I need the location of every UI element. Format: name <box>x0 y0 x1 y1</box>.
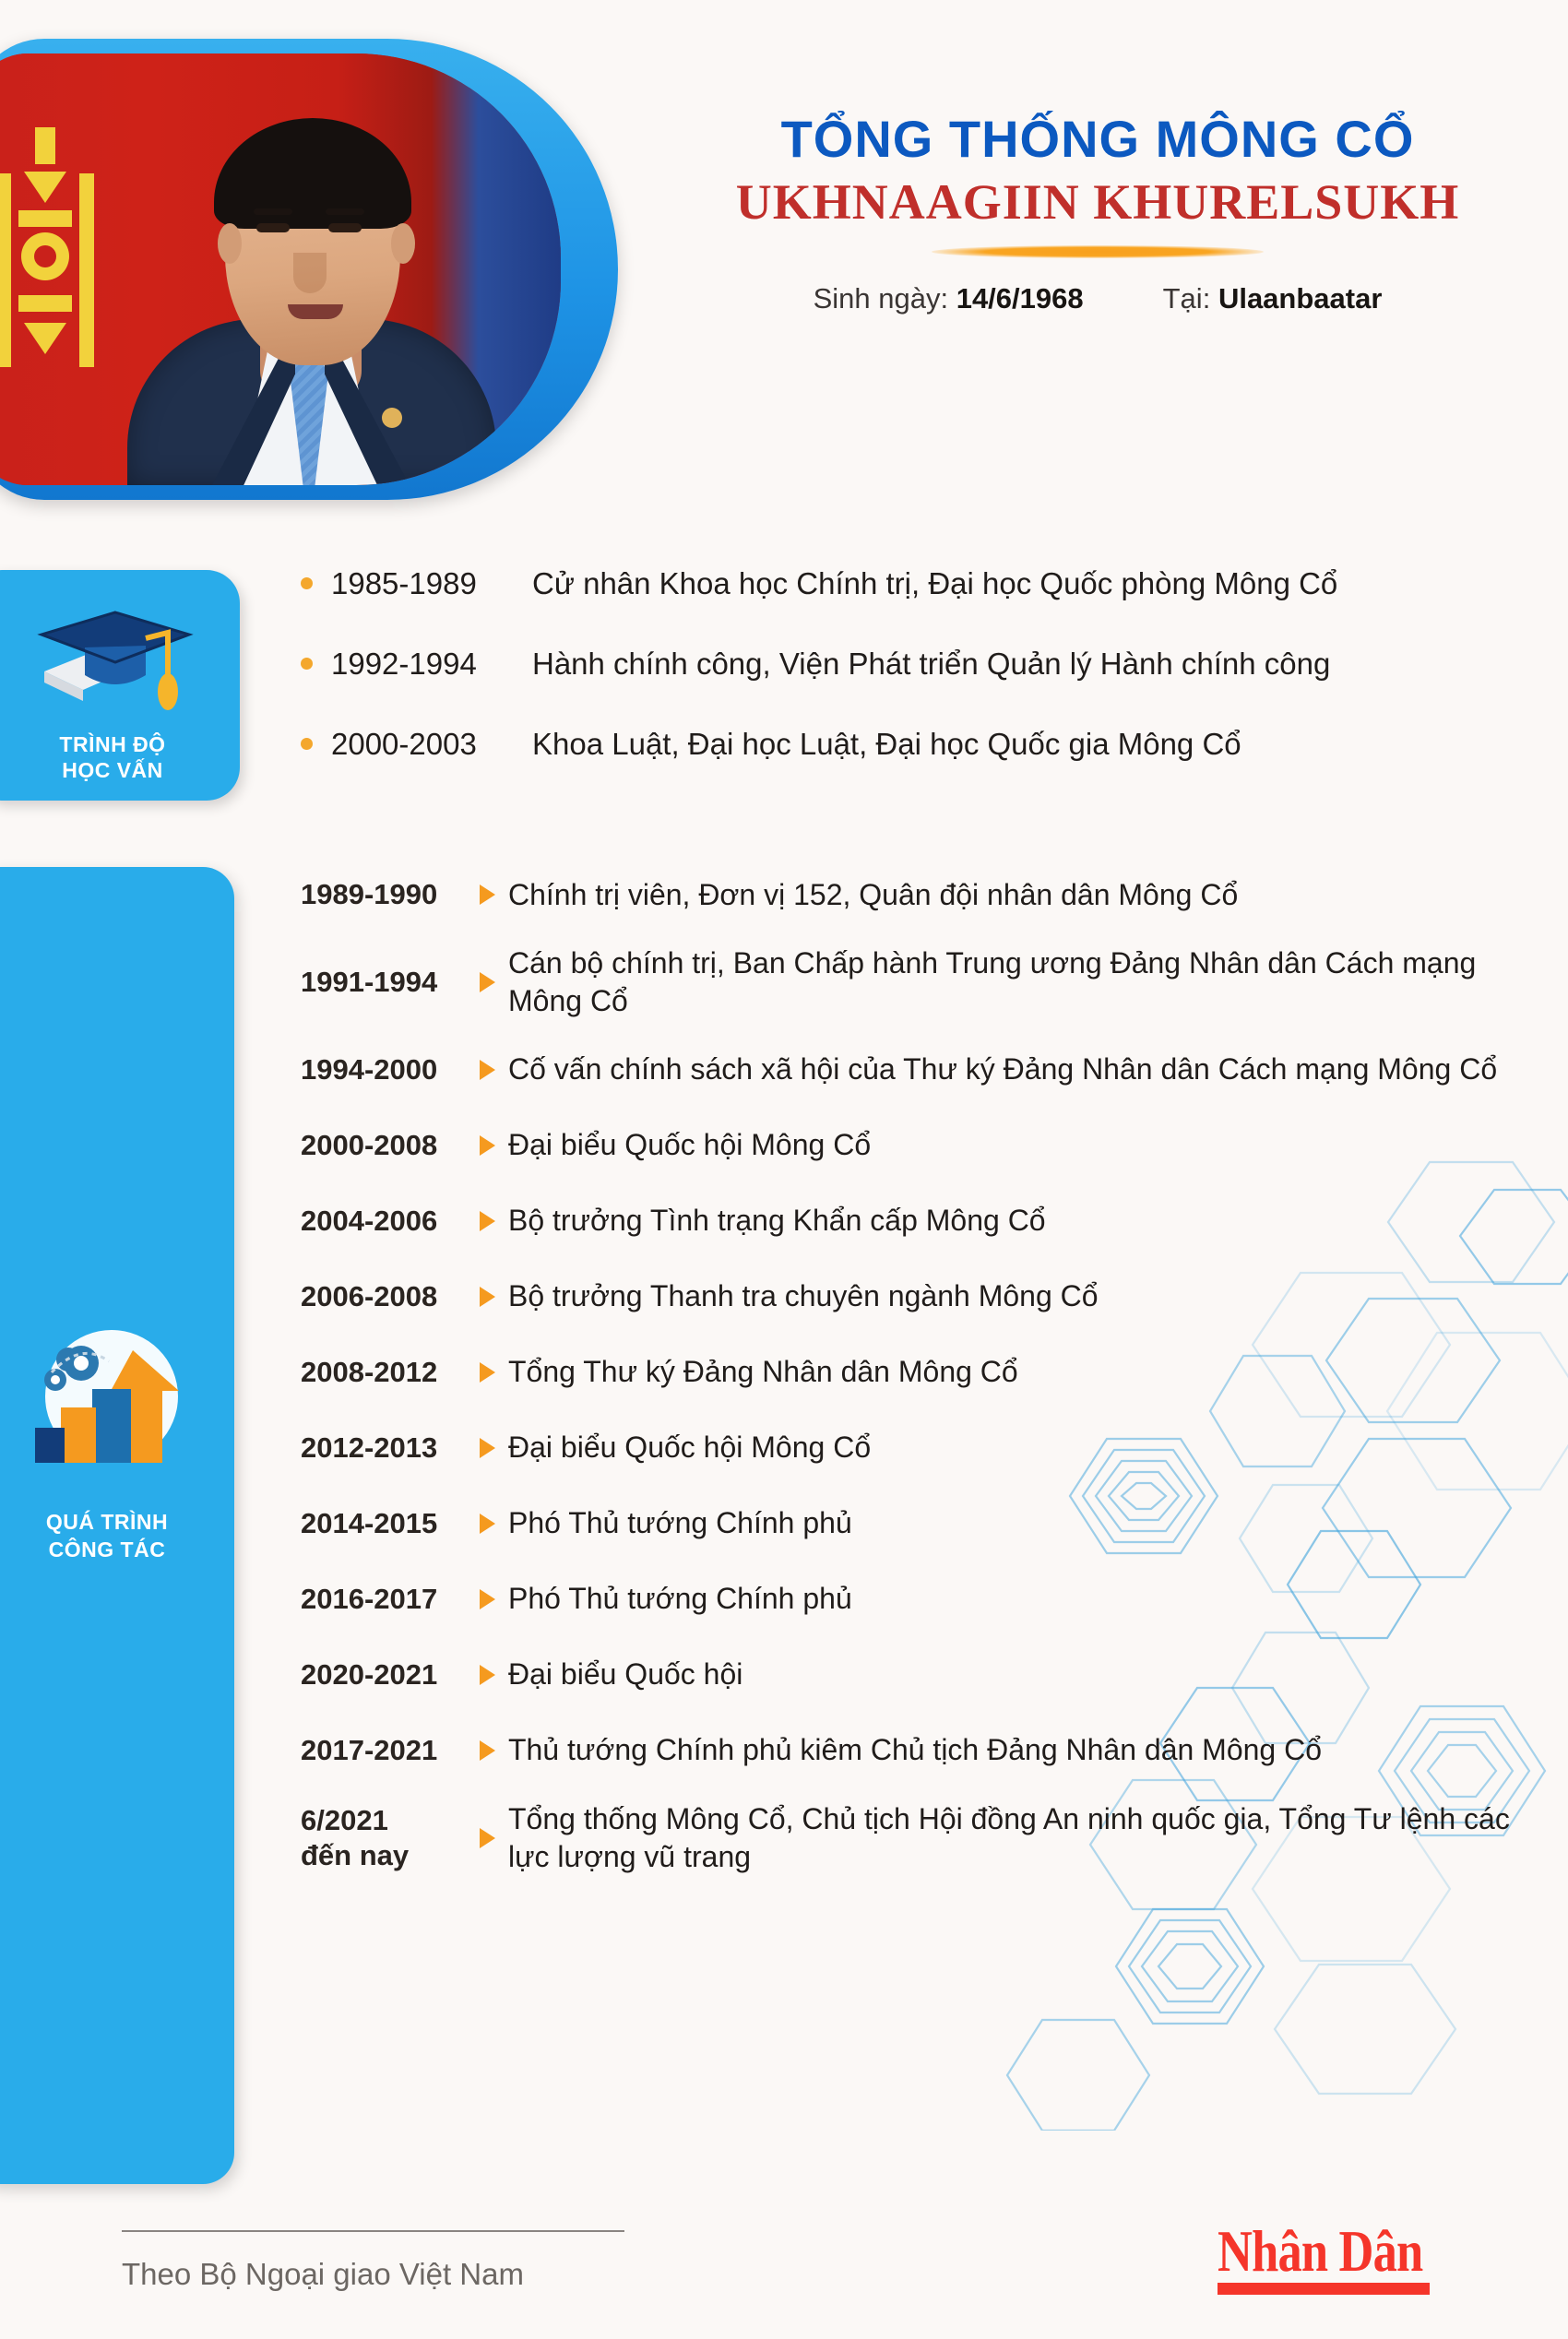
birth-info-row: Sinh ngày: 14/6/1968 Tại: Ulaanbaatar <box>636 282 1559 315</box>
education-year: 1992-1994 <box>331 647 532 682</box>
education-badge-line1: TRÌNH ĐỘ <box>0 731 240 758</box>
arrow-right-icon <box>480 1665 495 1685</box>
work-badge-label: QUÁ TRÌNH CÔNG TÁC <box>0 1509 234 1564</box>
work-history-badge: QUÁ TRÌNH CÔNG TÁC <box>0 867 234 2184</box>
arrow-right-icon <box>480 1287 495 1307</box>
birth-place: Tại: Ulaanbaatar <box>1163 282 1383 315</box>
portrait-photo <box>0 53 561 485</box>
work-description: Cố vấn chính sách xã hội của Thư ký Đảng… <box>508 1051 1497 1088</box>
education-list: 1985-1989 Cử nhân Khoa học Chính trị, Đạ… <box>301 566 1527 807</box>
work-item: 1994-2000 Cố vấn chính sách xã hội của T… <box>301 1044 1537 1096</box>
work-description: Cán bộ chính trị, Ban Chấp hành Trung ươ… <box>508 944 1537 1020</box>
nhan-dan-logo-bar <box>1218 2283 1430 2295</box>
birth-place-value: Ulaanbaatar <box>1218 282 1382 315</box>
education-badge: TRÌNH ĐỘ HỌC VẤN <box>0 570 240 801</box>
work-item: 1989-1990 Chính trị viên, Đơn vị 152, Qu… <box>301 869 1537 920</box>
work-item: 2014-2015 Phó Thủ tướng Chính phủ <box>301 1498 1537 1549</box>
work-year: 2017-2021 <box>301 1733 476 1768</box>
work-history-list: 1989-1990 Chính trị viên, Đơn vị 152, Qu… <box>301 869 1537 1876</box>
president-portrait-illustration <box>111 85 507 485</box>
infographic-page: TỔNG THỐNG MÔNG CỔ UKHNAAGIIN KHURELSUKH… <box>0 0 1568 2339</box>
work-item: 2004-2006 Bộ trưởng Tình trạng Khẩn cấp … <box>301 1195 1537 1247</box>
education-description: Cử nhân Khoa học Chính trị, Đại học Quốc… <box>532 566 1337 601</box>
work-description: Thủ tướng Chính phủ kiêm Chủ tịch Đảng N… <box>508 1731 1322 1769</box>
work-item: 2000-2008 Đại biểu Quốc hội Mông Cổ <box>301 1120 1537 1171</box>
work-description: Tổng Thư ký Đảng Nhân dân Mông Cổ <box>508 1353 1018 1391</box>
work-year: 2006-2008 <box>301 1279 476 1314</box>
header: TỔNG THỐNG MÔNG CỔ UKHNAAGIIN KHURELSUKH… <box>0 0 1568 516</box>
arrow-right-icon <box>480 1362 495 1383</box>
birth-place-label: Tại: <box>1163 282 1211 315</box>
arrow-right-icon <box>480 1060 495 1080</box>
bullet-dot-icon <box>301 738 313 750</box>
education-badge-line2: HỌC VẤN <box>0 757 240 784</box>
work-year: 2004-2006 <box>301 1204 476 1239</box>
footer-source: Theo Bộ Ngoại giao Việt Nam <box>122 2257 524 2292</box>
work-year: 2016-2017 <box>301 1582 476 1617</box>
footer-divider <box>122 2230 624 2232</box>
education-item: 1992-1994 Hành chính công, Viện Phát tri… <box>301 647 1527 682</box>
arrow-right-icon <box>480 1828 495 1848</box>
arrow-right-icon <box>480 1438 495 1458</box>
work-year: 2020-2021 <box>301 1657 476 1692</box>
work-item: 2020-2021 Đại biểu Quốc hội <box>301 1649 1537 1701</box>
work-year: 1991-1994 <box>301 965 476 1000</box>
nhan-dan-logo[interactable]: Nhân Dân <box>1218 2223 1476 2311</box>
orange-divider <box>932 245 1264 258</box>
work-year: 2012-2013 <box>301 1431 476 1466</box>
arrow-right-icon <box>480 1740 495 1761</box>
bar-chart-growth-icon <box>24 1324 199 1495</box>
work-year: 1989-1990 <box>301 877 476 912</box>
soyombo-symbol-icon <box>0 118 129 422</box>
arrow-right-icon <box>480 972 495 992</box>
bullet-dot-icon <box>301 658 313 670</box>
work-description: Đại biểu Quốc hội Mông Cổ <box>508 1126 871 1164</box>
work-description: Đại biểu Quốc hội Mông Cổ <box>508 1429 871 1466</box>
work-item: 2006-2008 Bộ trưởng Thanh tra chuyên ngà… <box>301 1271 1537 1323</box>
bullet-dot-icon <box>301 577 313 589</box>
work-item: 2012-2013 Đại biểu Quốc hội Mông Cổ <box>301 1422 1537 1474</box>
page-title: TỔNG THỐNG MÔNG CỔ <box>636 111 1559 168</box>
work-badge-line2: CÔNG TÁC <box>0 1537 234 1564</box>
work-description: Tổng thống Mông Cổ, Chủ tịch Hội đồng An… <box>508 1800 1537 1876</box>
person-name: UKHNAAGIIN KHURELSUKH <box>636 173 1559 231</box>
work-description: Đại biểu Quốc hội <box>508 1656 742 1693</box>
work-year: 6/2021 đến nay <box>301 1803 476 1873</box>
education-description: Khoa Luật, Đại học Luật, Đại học Quốc gi… <box>532 727 1241 762</box>
work-year: 1994-2000 <box>301 1052 476 1087</box>
work-description: Phó Thủ tướng Chính phủ <box>508 1504 852 1542</box>
arrow-right-icon <box>480 1135 495 1156</box>
work-description: Bộ trưởng Tình trạng Khẩn cấp Mông Cổ <box>508 1202 1046 1240</box>
arrow-right-icon <box>480 885 495 905</box>
education-year: 2000-2003 <box>331 727 532 762</box>
portrait-frame <box>0 39 618 500</box>
work-description: Chính trị viên, Đơn vị 152, Quân đội nhâ… <box>508 876 1238 914</box>
work-item: 2016-2017 Phó Thủ tướng Chính phủ <box>301 1573 1537 1625</box>
graduation-cap-icon <box>28 590 203 729</box>
birth-date-value: 14/6/1968 <box>956 282 1084 315</box>
work-item: 6/2021 đến nay Tổng thống Mông Cổ, Chủ t… <box>301 1800 1537 1876</box>
work-description: Phó Thủ tướng Chính phủ <box>508 1580 852 1618</box>
birth-date-label: Sinh ngày: <box>814 282 949 315</box>
work-badge-line1: QUÁ TRÌNH <box>0 1509 234 1537</box>
arrow-right-icon <box>480 1211 495 1231</box>
education-item: 2000-2003 Khoa Luật, Đại học Luật, Đại h… <box>301 727 1527 762</box>
work-year: 2008-2012 <box>301 1355 476 1390</box>
work-description: Bộ trưởng Thanh tra chuyên ngành Mông Cổ <box>508 1277 1099 1315</box>
arrow-right-icon <box>480 1589 495 1609</box>
arrow-right-icon <box>480 1514 495 1534</box>
education-badge-label: TRÌNH ĐỘ HỌC VẤN <box>0 731 240 785</box>
nhan-dan-logo-text: Nhân Dân <box>1218 2223 1430 2279</box>
work-item: 2008-2012 Tổng Thư ký Đảng Nhân dân Mông… <box>301 1347 1537 1398</box>
work-year: 2000-2008 <box>301 1128 476 1163</box>
education-year: 1985-1989 <box>331 566 532 601</box>
work-item: 2017-2021 Thủ tướng Chính phủ kiêm Chủ t… <box>301 1725 1537 1776</box>
birth-date: Sinh ngày: 14/6/1968 <box>814 282 1084 315</box>
education-item: 1985-1989 Cử nhân Khoa học Chính trị, Đạ… <box>301 566 1527 601</box>
work-item: 1991-1994 Cán bộ chính trị, Ban Chấp hàn… <box>301 944 1537 1020</box>
header-text-block: TỔNG THỐNG MÔNG CỔ UKHNAAGIIN KHURELSUKH… <box>636 111 1559 315</box>
work-year: 2014-2015 <box>301 1506 476 1541</box>
education-description: Hành chính công, Viện Phát triển Quản lý… <box>532 647 1330 682</box>
